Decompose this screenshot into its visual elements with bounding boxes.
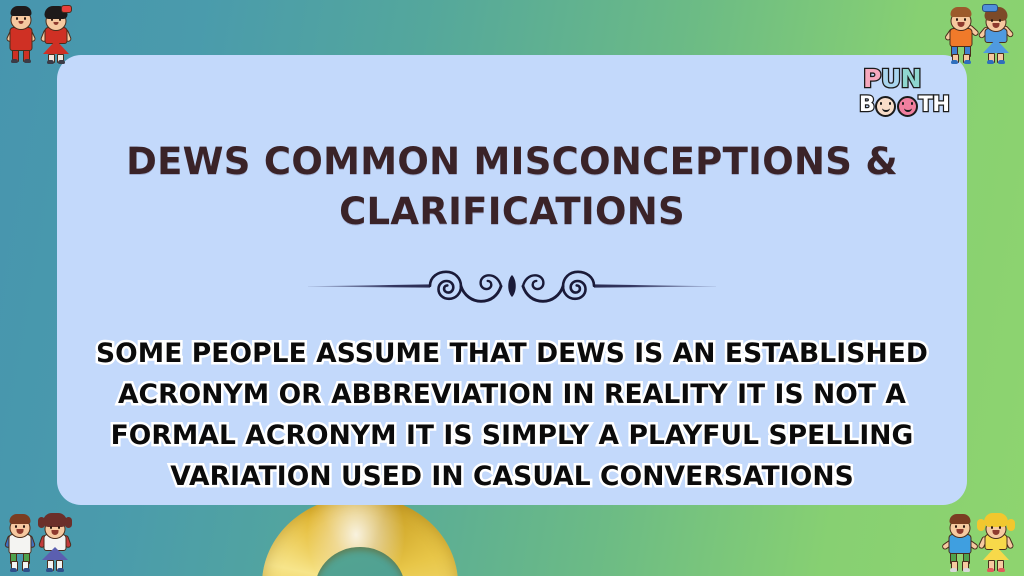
cartoon-kid [40,4,72,66]
content-card: P U N B T H DEWS COMMON MISCONCEPTIONS &… [57,55,967,505]
decoration-bottom-left-kids [0,508,84,576]
cartoon-kid [946,4,976,66]
ornamental-flourish-divider-icon [302,265,722,307]
cartoon-kid [980,4,1012,66]
logo-letter-h: H [932,93,949,117]
smiley-face-icon [875,96,896,117]
decoration-bottom-right-kids [940,508,1024,576]
logo-letter-u: U [881,65,901,92]
cartoon-kid [945,512,975,574]
logo-letter-p: P [863,65,881,92]
logo-letter-t: T [919,93,933,117]
page-title: DEWS COMMON MISCONCEPTIONS & CLARIFICATI… [117,137,907,237]
smiley-face-icon [897,96,918,117]
cartoon-kid [979,512,1013,574]
pun-booth-logo[interactable]: P U N B T H [857,63,949,127]
cartoon-kid [6,4,36,66]
slide-canvas: P U N B T H DEWS COMMON MISCONCEPTIONS &… [0,0,1024,576]
logo-letter-b: B [859,93,875,117]
logo-line-pun: P U N [863,65,921,92]
decoration-top-right-kids [940,0,1024,68]
cartoon-kid [5,512,35,574]
cartoon-kid [39,512,71,574]
body-paragraph: SOME PEOPLE ASSUME THAT DEWS IS AN ESTAB… [92,333,932,497]
logo-line-booth: B T H [859,93,949,117]
logo-letter-n: N [901,65,921,92]
